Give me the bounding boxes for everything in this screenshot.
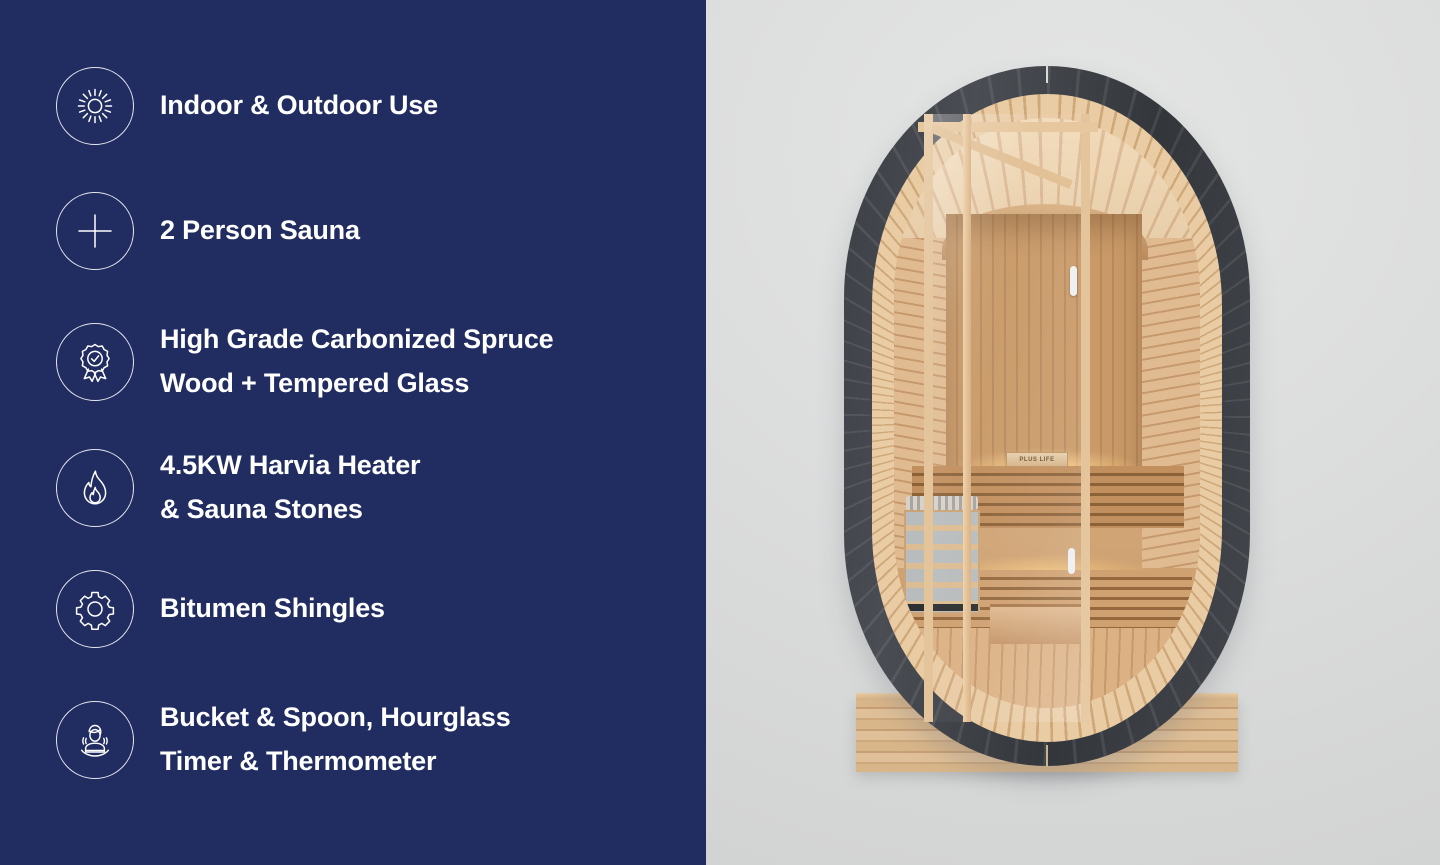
feature-label: High Grade Carbonized Spruce Wood + Temp… xyxy=(160,318,553,405)
feature-item-bitumen-shingles: Bitumen Shingles xyxy=(56,570,385,648)
product-image-panel: PLUS LIFE xyxy=(706,0,1440,865)
feature-label: Bucket & Spoon, Hourglass Timer & Thermo… xyxy=(160,696,511,783)
door-handle xyxy=(1070,266,1077,296)
features-panel: Indoor & Outdoor Use 2 Person Sauna xyxy=(0,0,706,865)
sauna-person-icon xyxy=(56,701,134,779)
sauna-product-image: PLUS LIFE xyxy=(832,66,1262,796)
sauna-interior: PLUS LIFE xyxy=(894,118,1200,708)
roof-ridge-seam xyxy=(1046,65,1048,83)
feature-label: Bitumen Shingles xyxy=(160,587,385,631)
feature-label: Indoor & Outdoor Use xyxy=(160,84,438,128)
feature-item-2-person-sauna: 2 Person Sauna xyxy=(56,192,360,270)
base-seam xyxy=(1046,745,1048,767)
plus-icon xyxy=(56,192,134,270)
feature-label: 2 Person Sauna xyxy=(160,209,360,253)
sun-icon xyxy=(56,67,134,145)
bench-backrest xyxy=(990,604,1082,644)
gear-icon xyxy=(56,570,134,648)
award-badge-icon xyxy=(56,323,134,401)
feature-item-accessories: Bucket & Spoon, Hourglass Timer & Thermo… xyxy=(56,696,511,783)
brand-plaque-text: PLUS LIFE xyxy=(1019,457,1054,463)
feature-item-indoor-outdoor: Indoor & Outdoor Use xyxy=(56,67,438,145)
door-mullion xyxy=(963,114,971,722)
feature-item-carbonized-spruce: High Grade Carbonized Spruce Wood + Temp… xyxy=(56,318,553,405)
feature-label: 4.5KW Harvia Heater & Sauna Stones xyxy=(160,444,420,531)
door-handle-lower xyxy=(1068,548,1075,574)
feature-item-harvia-heater: 4.5KW Harvia Heater & Sauna Stones xyxy=(56,444,420,531)
product-feature-banner: Indoor & Outdoor Use 2 Person Sauna xyxy=(0,0,1440,865)
flame-icon xyxy=(56,449,134,527)
